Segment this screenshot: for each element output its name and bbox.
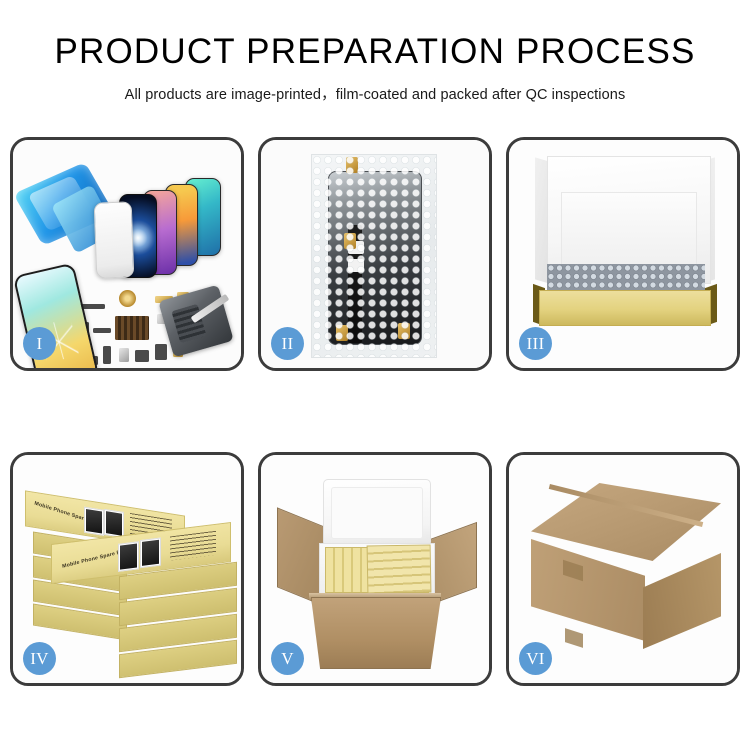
phone-screen-1: [94, 201, 135, 278]
foam-sheet: [561, 192, 697, 266]
step-badge-3: III: [519, 327, 552, 360]
step-panel-5[interactable]: V: [258, 452, 492, 686]
page-subtitle: All products are image-printed，film-coat…: [0, 83, 750, 104]
yellow-boxes-row-b: [367, 544, 432, 593]
bubble-wrap-bag: [311, 154, 437, 358]
retail-box-stack: Mobile Phone Spare Parts Mobile Phone Sp…: [19, 477, 239, 667]
step-panel-4[interactable]: Mobile Phone Spare Parts Mobile Phone Sp…: [10, 452, 244, 686]
step-badge-2: II: [271, 327, 304, 360]
step-panel-3[interactable]: III: [506, 137, 740, 371]
step-badge-6: VI: [519, 642, 552, 675]
page-header: PRODUCT PREPARATION PROCESS All products…: [0, 0, 750, 104]
bubble-wrap-fill: [547, 264, 705, 292]
bubble-texture: [312, 155, 436, 357]
step-panel-6[interactable]: VI: [506, 452, 740, 686]
step-badge-1: I: [23, 327, 56, 360]
carton-front-panel: [311, 597, 441, 669]
page-title: PRODUCT PREPARATION PROCESS: [0, 34, 750, 71]
yellow-inner-box: [539, 290, 711, 326]
step-panel-2[interactable]: II: [258, 137, 492, 371]
step-badge-5: V: [271, 642, 304, 675]
step-panel-1[interactable]: I: [10, 137, 244, 371]
step-badge-4: IV: [23, 642, 56, 675]
styrofoam-lid: [323, 479, 431, 547]
process-step-grid: I II: [10, 137, 740, 686]
